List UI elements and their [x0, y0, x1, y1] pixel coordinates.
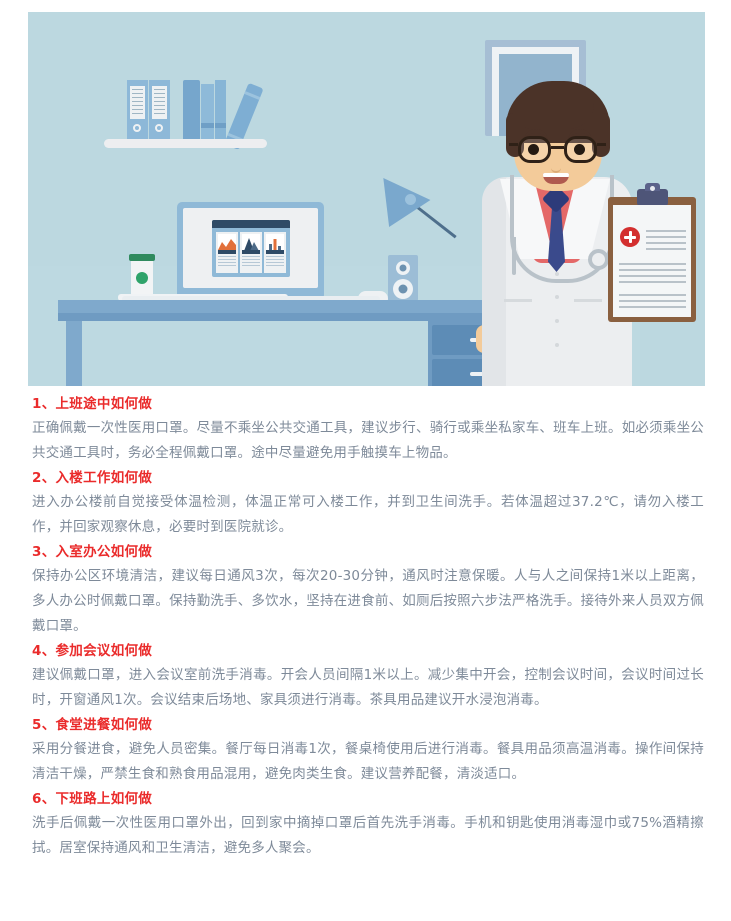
- stethoscope-bell-icon: [588, 249, 609, 270]
- chart-card: [240, 232, 262, 273]
- monitor-screen: [183, 208, 318, 288]
- binder-icon: [127, 80, 148, 140]
- browser-window: [212, 220, 290, 277]
- desktop-monitor: [177, 202, 324, 300]
- eye-pupil: [528, 144, 539, 155]
- card-text-lines: [242, 256, 260, 271]
- card-text-lines: [218, 256, 236, 271]
- coat-button: [555, 319, 559, 323]
- speaker-woofer-icon: [393, 279, 413, 299]
- guideline-content: 1、上班途中如何做 正确佩戴一次性医用口罩。尽量不乘坐公共交通工具，建议步行、骑…: [32, 392, 704, 861]
- book-icon: [201, 84, 214, 140]
- book-icon: [183, 80, 200, 140]
- lab-coat-shadow: [482, 177, 506, 386]
- binder-icon: [149, 80, 170, 140]
- speaker-tweeter-icon: [396, 261, 410, 275]
- eye-pupil: [574, 144, 585, 155]
- section-title-1: 1、上班途中如何做: [32, 392, 704, 416]
- page-root: 1、上班途中如何做 正确佩戴一次性医用口罩。尽量不乘坐公共交通工具，建议步行、骑…: [0, 0, 731, 921]
- coat-button: [555, 343, 559, 347]
- section-body-6: 洗手后佩戴一次性医用口罩外出，回到家中摘掉口罩后首先洗手消毒。手机和钥匙使用消毒…: [32, 811, 704, 861]
- section-title-3: 3、入室办公如何做: [32, 540, 704, 564]
- stethoscope-tail: [512, 237, 516, 275]
- section-body-4: 建议佩戴口罩，进入会议室前洗手消毒。开会人员间隔1米以上。减少集中开会，控制会议…: [32, 663, 704, 713]
- desk-leg: [66, 321, 82, 386]
- clipboard-paper: [613, 205, 691, 317]
- binder-ring-icon: [133, 124, 141, 132]
- cup-logo-icon: [136, 272, 148, 284]
- clipboard-clip-icon: [637, 189, 668, 206]
- binder-label: [152, 86, 167, 119]
- hero-illustration: [28, 12, 705, 386]
- medical-cross-icon: [620, 227, 640, 247]
- area-chart-icon: [218, 234, 236, 254]
- section-title-5: 5、食堂进餐如何做: [32, 713, 704, 737]
- browser-titlebar: [212, 220, 290, 228]
- section-title-4: 4、参加会议如何做: [32, 639, 704, 663]
- cup-lid: [129, 254, 155, 261]
- book-icon: [215, 80, 226, 140]
- speaker: [388, 255, 418, 301]
- coat-button: [555, 272, 559, 276]
- card-text-lines: [266, 256, 284, 271]
- section-body-5: 采用分餐进食，避免人员密集。餐厅每日消毒1次，餐桌椅使用后进行消毒。餐具用品须高…: [32, 737, 704, 787]
- section-title-6: 6、下班路上如何做: [32, 787, 704, 811]
- section-body-2: 进入办公楼前自觉接受体温检测，体温正常可入楼工作，并到卫生间洗手。若体温超过37…: [32, 490, 704, 540]
- nose: [551, 163, 561, 173]
- coat-pocket: [504, 299, 532, 302]
- section-title-2: 2、入楼工作如何做: [32, 466, 704, 490]
- binder-ring-icon: [155, 124, 163, 132]
- eyeglasses-temple: [597, 143, 606, 146]
- mountain-chart-icon: [242, 234, 260, 254]
- clipboard: [608, 197, 696, 322]
- binder-label: [130, 86, 145, 119]
- lamp-knuckle: [405, 194, 416, 205]
- coat-pocket: [574, 299, 602, 302]
- eyeglasses-temple: [509, 143, 518, 146]
- shelf-board: [104, 139, 267, 148]
- section-body-1: 正确佩戴一次性医用口罩。尽量不乘坐公共交通工具，建议步行、骑行或乘坐私家车、班车…: [32, 416, 704, 466]
- eyeglasses-bridge: [551, 146, 564, 149]
- chart-card: [264, 232, 286, 273]
- section-body-3: 保持办公区环境清洁，建议每日通风3次，每次20-30分钟，通风时注意保暖。人与人…: [32, 564, 704, 639]
- bar-chart-icon: [266, 234, 284, 254]
- chart-card: [216, 232, 238, 273]
- coat-button: [555, 295, 559, 299]
- lamp-shade: [366, 178, 431, 238]
